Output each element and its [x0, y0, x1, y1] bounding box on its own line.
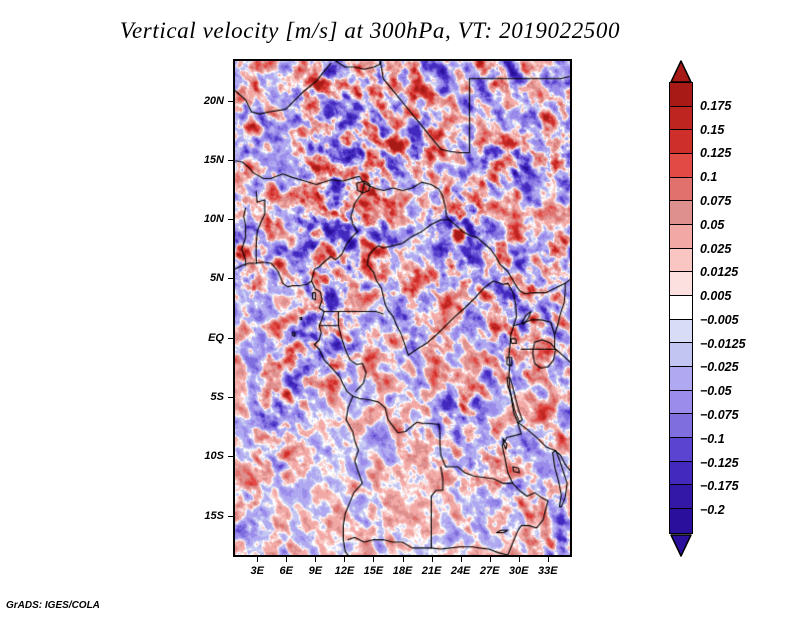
colorbar-label: 0.125 — [700, 146, 731, 160]
x-axis-tick — [344, 557, 345, 562]
colorbar-swatch — [670, 154, 692, 178]
colorbar-label: −0.075 — [700, 408, 739, 422]
x-axis-tick — [548, 557, 549, 562]
colorbar-swatch — [670, 83, 692, 107]
x-axis-label: 12E — [335, 565, 355, 577]
grads-plot-page: Vertical velocity [m/s] at 300hPa, VT: 2… — [0, 0, 800, 618]
colorbar-label: 0.025 — [700, 242, 731, 256]
y-axis-tick — [228, 101, 233, 102]
colorbar-label: 0.005 — [700, 289, 731, 303]
colorbar-swatch — [670, 201, 692, 225]
x-axis-label: 33E — [538, 565, 558, 577]
colorbar-top-arrow — [669, 60, 693, 83]
colorbar-swatch — [670, 462, 692, 486]
colorbar-swatch — [670, 438, 692, 462]
x-axis-tick — [519, 557, 520, 562]
colorbar-label: 0.05 — [700, 218, 724, 232]
colorbar-swatch — [670, 367, 692, 391]
colorbar-label: 0.075 — [700, 194, 731, 208]
colorbar-label: −0.05 — [700, 384, 732, 398]
colorbar-label: −0.005 — [700, 313, 739, 327]
colorbar-label: −0.1 — [700, 432, 725, 446]
y-axis-label: 10S — [204, 450, 224, 462]
colorbar-label: −0.2 — [700, 503, 725, 517]
x-axis-label: 18E — [393, 565, 413, 577]
x-axis-label: 30E — [509, 565, 529, 577]
y-axis-label: 15S — [204, 510, 224, 522]
y-axis-tick — [228, 456, 233, 457]
colorbar-label: −0.125 — [700, 456, 739, 470]
colorbar-bottom-arrow — [669, 534, 693, 557]
y-axis-tick — [228, 219, 233, 220]
y-axis-tick — [228, 160, 233, 161]
y-axis-tick — [228, 278, 233, 279]
x-axis-tick — [490, 557, 491, 562]
x-axis-label: 15E — [364, 565, 384, 577]
x-axis-tick — [432, 557, 433, 562]
colorbar-swatch — [670, 107, 692, 131]
colorbar-swatch — [670, 320, 692, 344]
colorbar-swatch — [670, 130, 692, 154]
x-axis-tick — [286, 557, 287, 562]
colorbar-label: −0.175 — [700, 479, 739, 493]
colorbar-swatch — [670, 485, 692, 509]
x-axis-tick — [257, 557, 258, 562]
x-axis-tick — [461, 557, 462, 562]
colorbar-swatch — [670, 391, 692, 415]
x-axis-label: 21E — [422, 565, 442, 577]
y-axis-label: 20N — [204, 95, 224, 107]
y-axis-label: 10N — [204, 213, 224, 225]
colorbar — [669, 60, 693, 556]
colorbar-swatch — [670, 178, 692, 202]
colorbar-swatch — [670, 225, 692, 249]
map-plot-area — [233, 59, 572, 557]
colorbar-swatch — [670, 509, 692, 533]
y-axis-label: 5S — [211, 391, 224, 403]
colorbar-label: −0.025 — [700, 360, 739, 374]
colorbar-label: 0.1 — [700, 170, 717, 184]
country-borders-overlay — [235, 61, 570, 555]
footer-attribution: GrADS: IGES/COLA — [6, 600, 100, 611]
colorbar-label: 0.0125 — [700, 265, 738, 279]
x-axis-label: 6E — [280, 565, 293, 577]
colorbar-swatch — [670, 414, 692, 438]
colorbar-swatches — [669, 82, 693, 534]
colorbar-label: 0.175 — [700, 99, 731, 113]
colorbar-label: −0.0125 — [700, 337, 746, 351]
y-axis-label: 5N — [210, 272, 224, 284]
colorbar-swatch — [670, 296, 692, 320]
y-axis-tick — [228, 397, 233, 398]
y-axis-label: EQ — [208, 332, 224, 344]
y-axis-tick — [228, 338, 233, 339]
x-axis-label: 3E — [250, 565, 263, 577]
y-axis-tick — [228, 516, 233, 517]
colorbar-label: 0.15 — [700, 123, 724, 137]
colorbar-swatch — [670, 272, 692, 296]
colorbar-swatch — [670, 249, 692, 273]
x-axis-tick — [315, 557, 316, 562]
page-title: Vertical velocity [m/s] at 300hPa, VT: 2… — [0, 18, 740, 44]
x-axis-tick — [403, 557, 404, 562]
colorbar-swatch — [670, 343, 692, 367]
y-axis-label: 15N — [204, 154, 224, 166]
x-axis-label: 9E — [309, 565, 322, 577]
x-axis-tick — [373, 557, 374, 562]
x-axis-label: 27E — [480, 565, 500, 577]
x-axis-label: 24E — [451, 565, 471, 577]
